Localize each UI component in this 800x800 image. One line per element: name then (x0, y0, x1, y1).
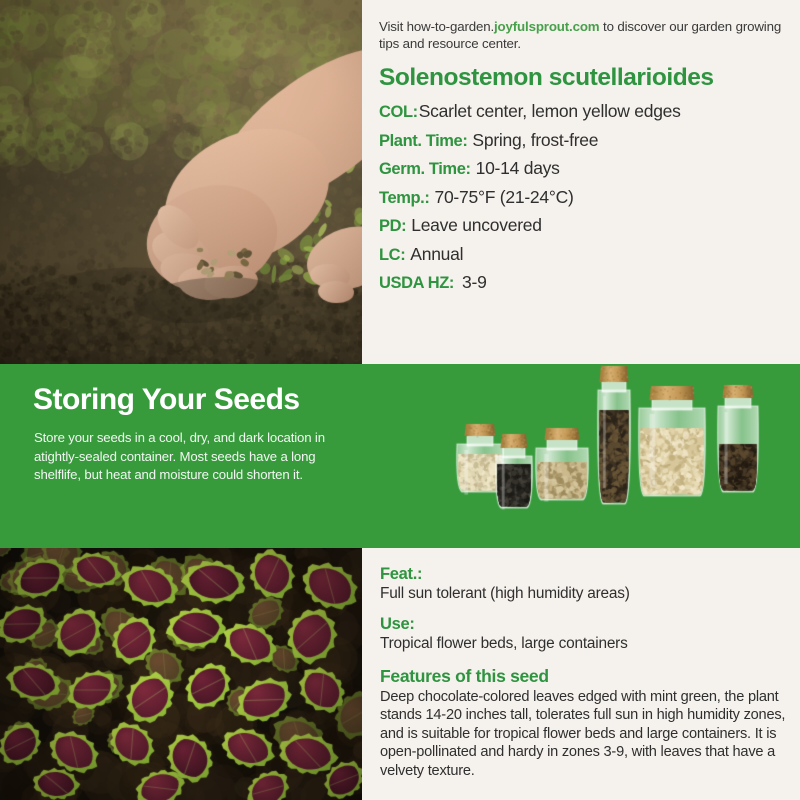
spec-label: Plant. Time: (379, 133, 467, 150)
spec-row: COL:Scarlet center, lemon yellow edges (379, 103, 786, 121)
features-body: Deep chocolate-colored leaves edged with… (380, 688, 786, 780)
use-block: Use: Tropical flower beds, large contain… (380, 615, 786, 653)
spec-label: LC: (379, 247, 405, 264)
feat-value: Full sun tolerant (high humidity areas) (380, 585, 786, 603)
spec-value: Scarlet center, lemon yellow edges (419, 103, 681, 121)
spec-row: Temp.:70-75°F (21-24°C) (379, 189, 786, 207)
spec-label: Germ. Time: (379, 161, 471, 178)
storing-title: Storing Your Seeds (33, 383, 300, 417)
spec-row: USDA HZ:3-9 (379, 274, 786, 292)
features-panel: Feat.: Full sun tolerant (high humidity … (362, 548, 800, 800)
storing-seeds-band: Storing Your Seeds Store your seeds in a… (0, 364, 800, 548)
features-block: Features of this seed Deep chocolate-col… (380, 666, 786, 780)
spec-label: Temp.: (379, 190, 429, 207)
spec-value: Leave uncovered (411, 217, 542, 235)
visit-website-line: Visit how-to-garden.joyfulsprout.com to … (379, 18, 786, 52)
spec-list: COL:Scarlet center, lemon yellow edgesPl… (379, 103, 786, 292)
use-label: Use: (380, 615, 786, 634)
seed-packet-infographic: Visit how-to-garden.joyfulsprout.com to … (0, 0, 800, 800)
spec-row: Germ. Time:10-14 days (379, 160, 786, 178)
feat-label: Feat.: (380, 565, 786, 584)
features-title: Features of this seed (380, 666, 786, 687)
hands-sowing-seeds-photo (0, 0, 362, 364)
coleus-plant-photo (0, 548, 362, 800)
page-title: Solenostemon scutellarioides (379, 64, 786, 92)
use-value: Tropical flower beds, large containers (380, 635, 786, 653)
seed-jars-illustration (440, 364, 800, 548)
spec-row: LC:Annual (379, 246, 786, 264)
bottom-section: Feat.: Full sun tolerant (high humidity … (0, 548, 800, 800)
spec-value: Annual (410, 246, 463, 264)
spec-row: PD:Leave uncovered (379, 217, 786, 235)
spec-label: COL: (379, 104, 418, 121)
spec-value: 3-9 (462, 274, 487, 292)
spec-value: 10-14 days (476, 160, 560, 178)
spec-label: USDA HZ: (379, 275, 454, 292)
spec-value: 70-75°F (21-24°C) (434, 189, 573, 207)
storing-body: Store your seeds in a cool, dry, and dar… (34, 429, 354, 485)
visit-text-pre: Visit how-to-garden. (379, 19, 494, 34)
top-section: Visit how-to-garden.joyfulsprout.com to … (0, 0, 800, 364)
species-info-panel: Visit how-to-garden.joyfulsprout.com to … (362, 0, 800, 364)
spec-label: PD: (379, 218, 406, 235)
feat-block: Feat.: Full sun tolerant (high humidity … (380, 565, 786, 603)
spec-value: Spring, frost-free (472, 132, 598, 150)
spec-row: Plant. Time:Spring, frost-free (379, 132, 786, 150)
brand-url[interactable]: joyfulsprout.com (494, 19, 599, 34)
